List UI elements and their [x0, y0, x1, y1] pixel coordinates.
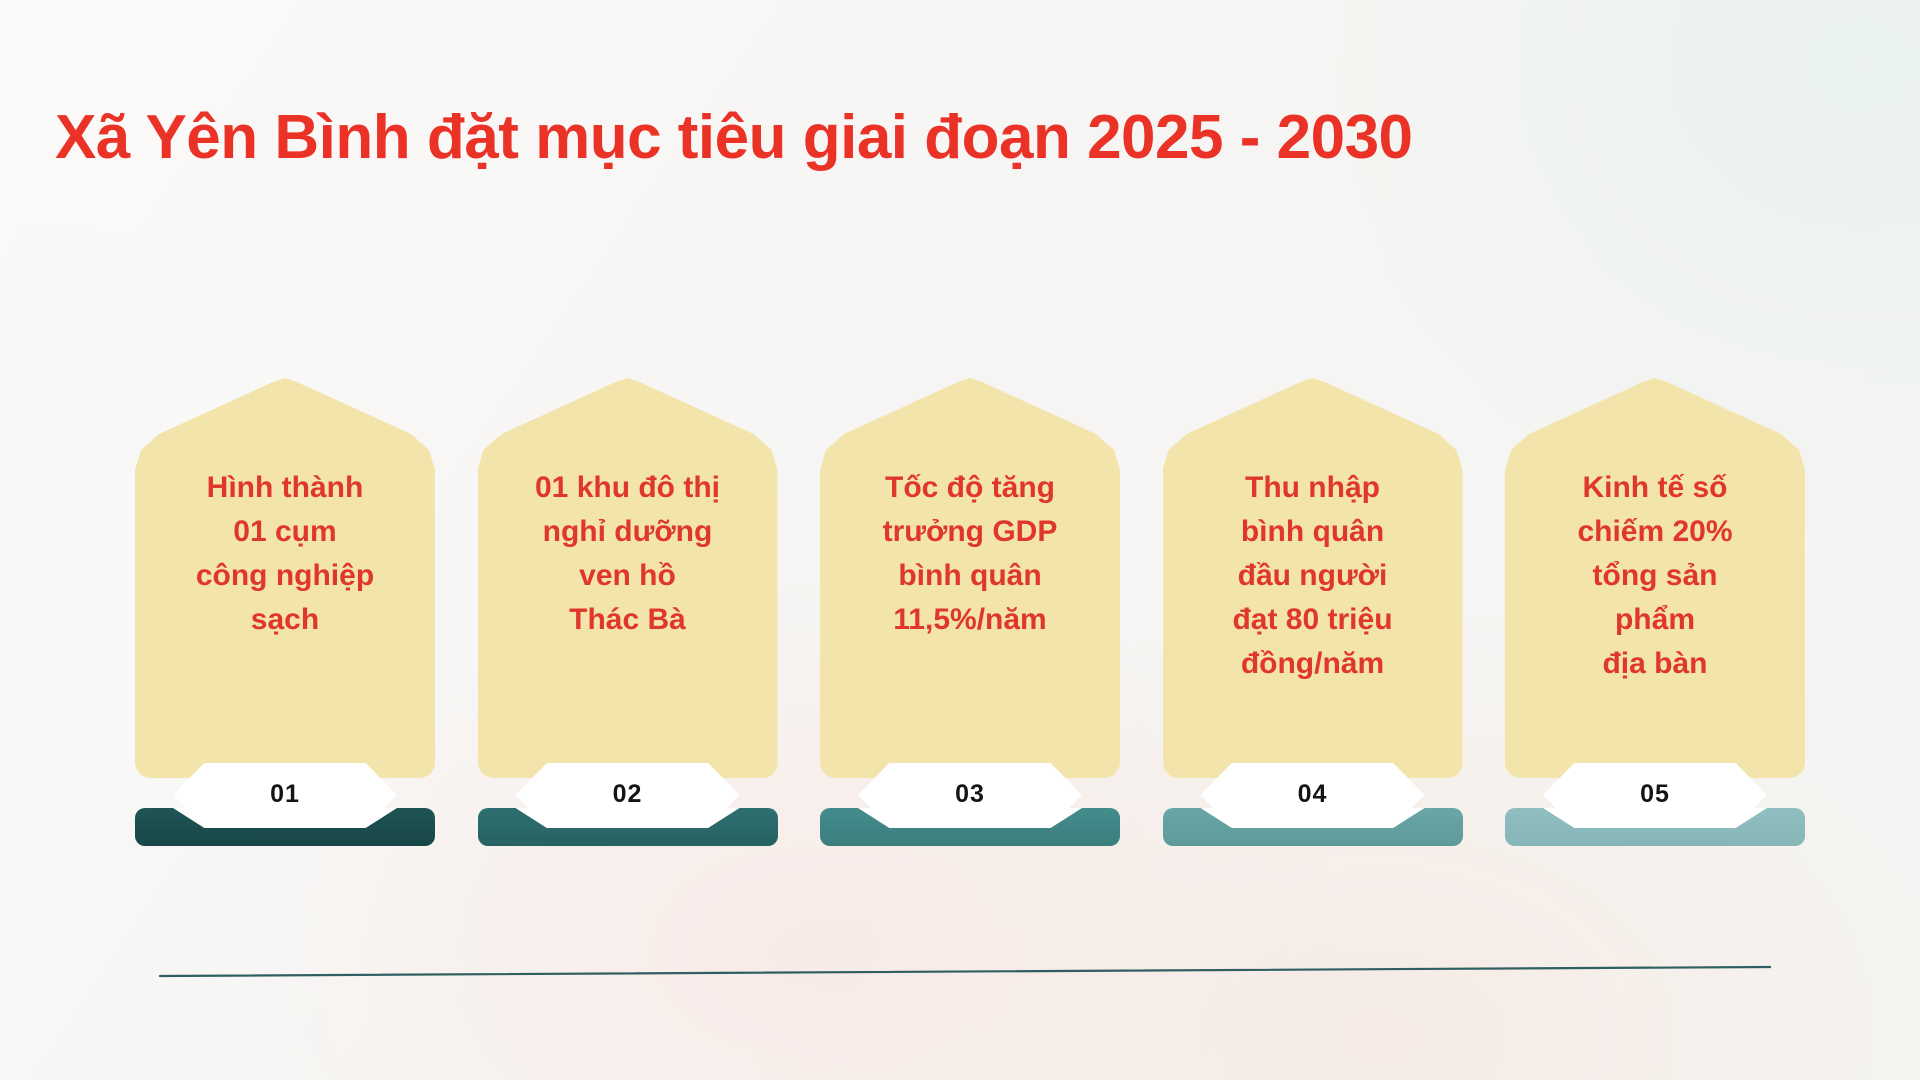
card-text: Kinh tế số chiếm 20% tổng sản phẩm địa b…	[1511, 466, 1799, 686]
card-badge[interactable]: 04	[1201, 763, 1425, 827]
card-badge[interactable]: 02	[516, 763, 740, 827]
card-text: Hình thành 01 cụm công nghiệp sạch	[141, 466, 429, 642]
goal-card-1[interactable]: Hình thành 01 cụm công nghiệp sạch 01	[135, 378, 435, 858]
card-text: 01 khu đô thị nghỉ dưỡng ven hồ Thác Bà	[484, 466, 772, 642]
card-text: Tốc độ tăng trưởng GDP bình quân 11,5%/n…	[826, 466, 1114, 642]
card-badge-label: 03	[955, 782, 985, 809]
card-badge[interactable]: 03	[858, 763, 1082, 827]
card-badge-label: 05	[1640, 782, 1670, 809]
page-title: Xã Yên Bình đặt mục tiêu giai đoạn 2025 …	[55, 105, 1865, 171]
goal-card-4[interactable]: Thu nhập bình quân đầu người đạt 80 triệ…	[1163, 378, 1463, 858]
bottom-divider	[160, 965, 1770, 979]
goal-card-3[interactable]: Tốc độ tăng trưởng GDP bình quân 11,5%/n…	[820, 378, 1120, 858]
goal-card-5[interactable]: Kinh tế số chiếm 20% tổng sản phẩm địa b…	[1505, 378, 1805, 858]
card-badge-label: 04	[1298, 782, 1328, 809]
card-badge[interactable]: 05	[1543, 763, 1767, 827]
card-badge[interactable]: 01	[173, 763, 397, 827]
card-text: Thu nhập bình quân đầu người đạt 80 triệ…	[1169, 466, 1457, 686]
card-badge-label: 02	[613, 782, 643, 809]
goal-card-2[interactable]: 01 khu đô thị nghỉ dưỡng ven hồ Thác Bà …	[478, 378, 778, 858]
card-badge-label: 01	[270, 782, 300, 809]
goals-card-row: Hình thành 01 cụm công nghiệp sạch 01 01…	[135, 378, 1805, 858]
